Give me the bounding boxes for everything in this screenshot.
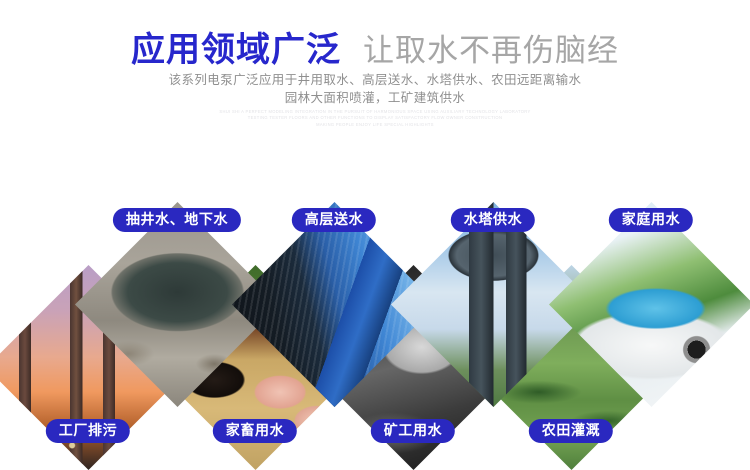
- promo-banner: 应用领域广泛 让取水不再伤脑经 该系列电泵广泛应用于井用取水、高层送水、水塔供水…: [0, 0, 750, 468]
- decorative-text-line-3: MAKING PEOPLE ENJOY LIFE SPECIAL HIGHLIG…: [0, 122, 750, 128]
- application-label-factory: 工厂排污: [46, 419, 130, 443]
- decorative-latin-text: SHUI SHI A PERFECT MODELING INTEGRATION …: [0, 109, 750, 128]
- page-title: 应用领域广泛 让取水不再伤脑经: [0, 22, 750, 71]
- application-diamond-grid: 工厂排污抽井水、地下水家畜用水高层送水矿工用水水塔供水农田灌溉家庭用水: [0, 232, 750, 442]
- application-label-pigs: 家畜用水: [213, 419, 297, 443]
- page-title-primary: 应用领域广泛: [131, 22, 341, 71]
- application-label-well: 抽井水、地下水: [113, 208, 241, 232]
- description-line-1: 该系列电泵广泛应用于井用取水、高层送水、水塔供水、农田远距离输水: [0, 71, 750, 89]
- application-label-miner: 矿工用水: [371, 419, 455, 443]
- application-label-city: 高层送水: [292, 208, 376, 232]
- application-label-car: 家庭用水: [609, 208, 693, 232]
- description-line-2: 园林大面积喷灌，工矿建筑供水: [0, 89, 750, 107]
- page-title-secondary: 让取水不再伤脑经: [363, 25, 619, 70]
- header: 应用领域广泛 让取水不再伤脑经 该系列电泵广泛应用于井用取水、高层送水、水塔供水…: [0, 0, 750, 150]
- application-label-tower: 水塔供水: [451, 208, 535, 232]
- application-label-field: 农田灌溉: [529, 419, 613, 443]
- header-description: 该系列电泵广泛应用于井用取水、高层送水、水塔供水、农田远距离输水 园林大面积喷灌…: [0, 71, 750, 107]
